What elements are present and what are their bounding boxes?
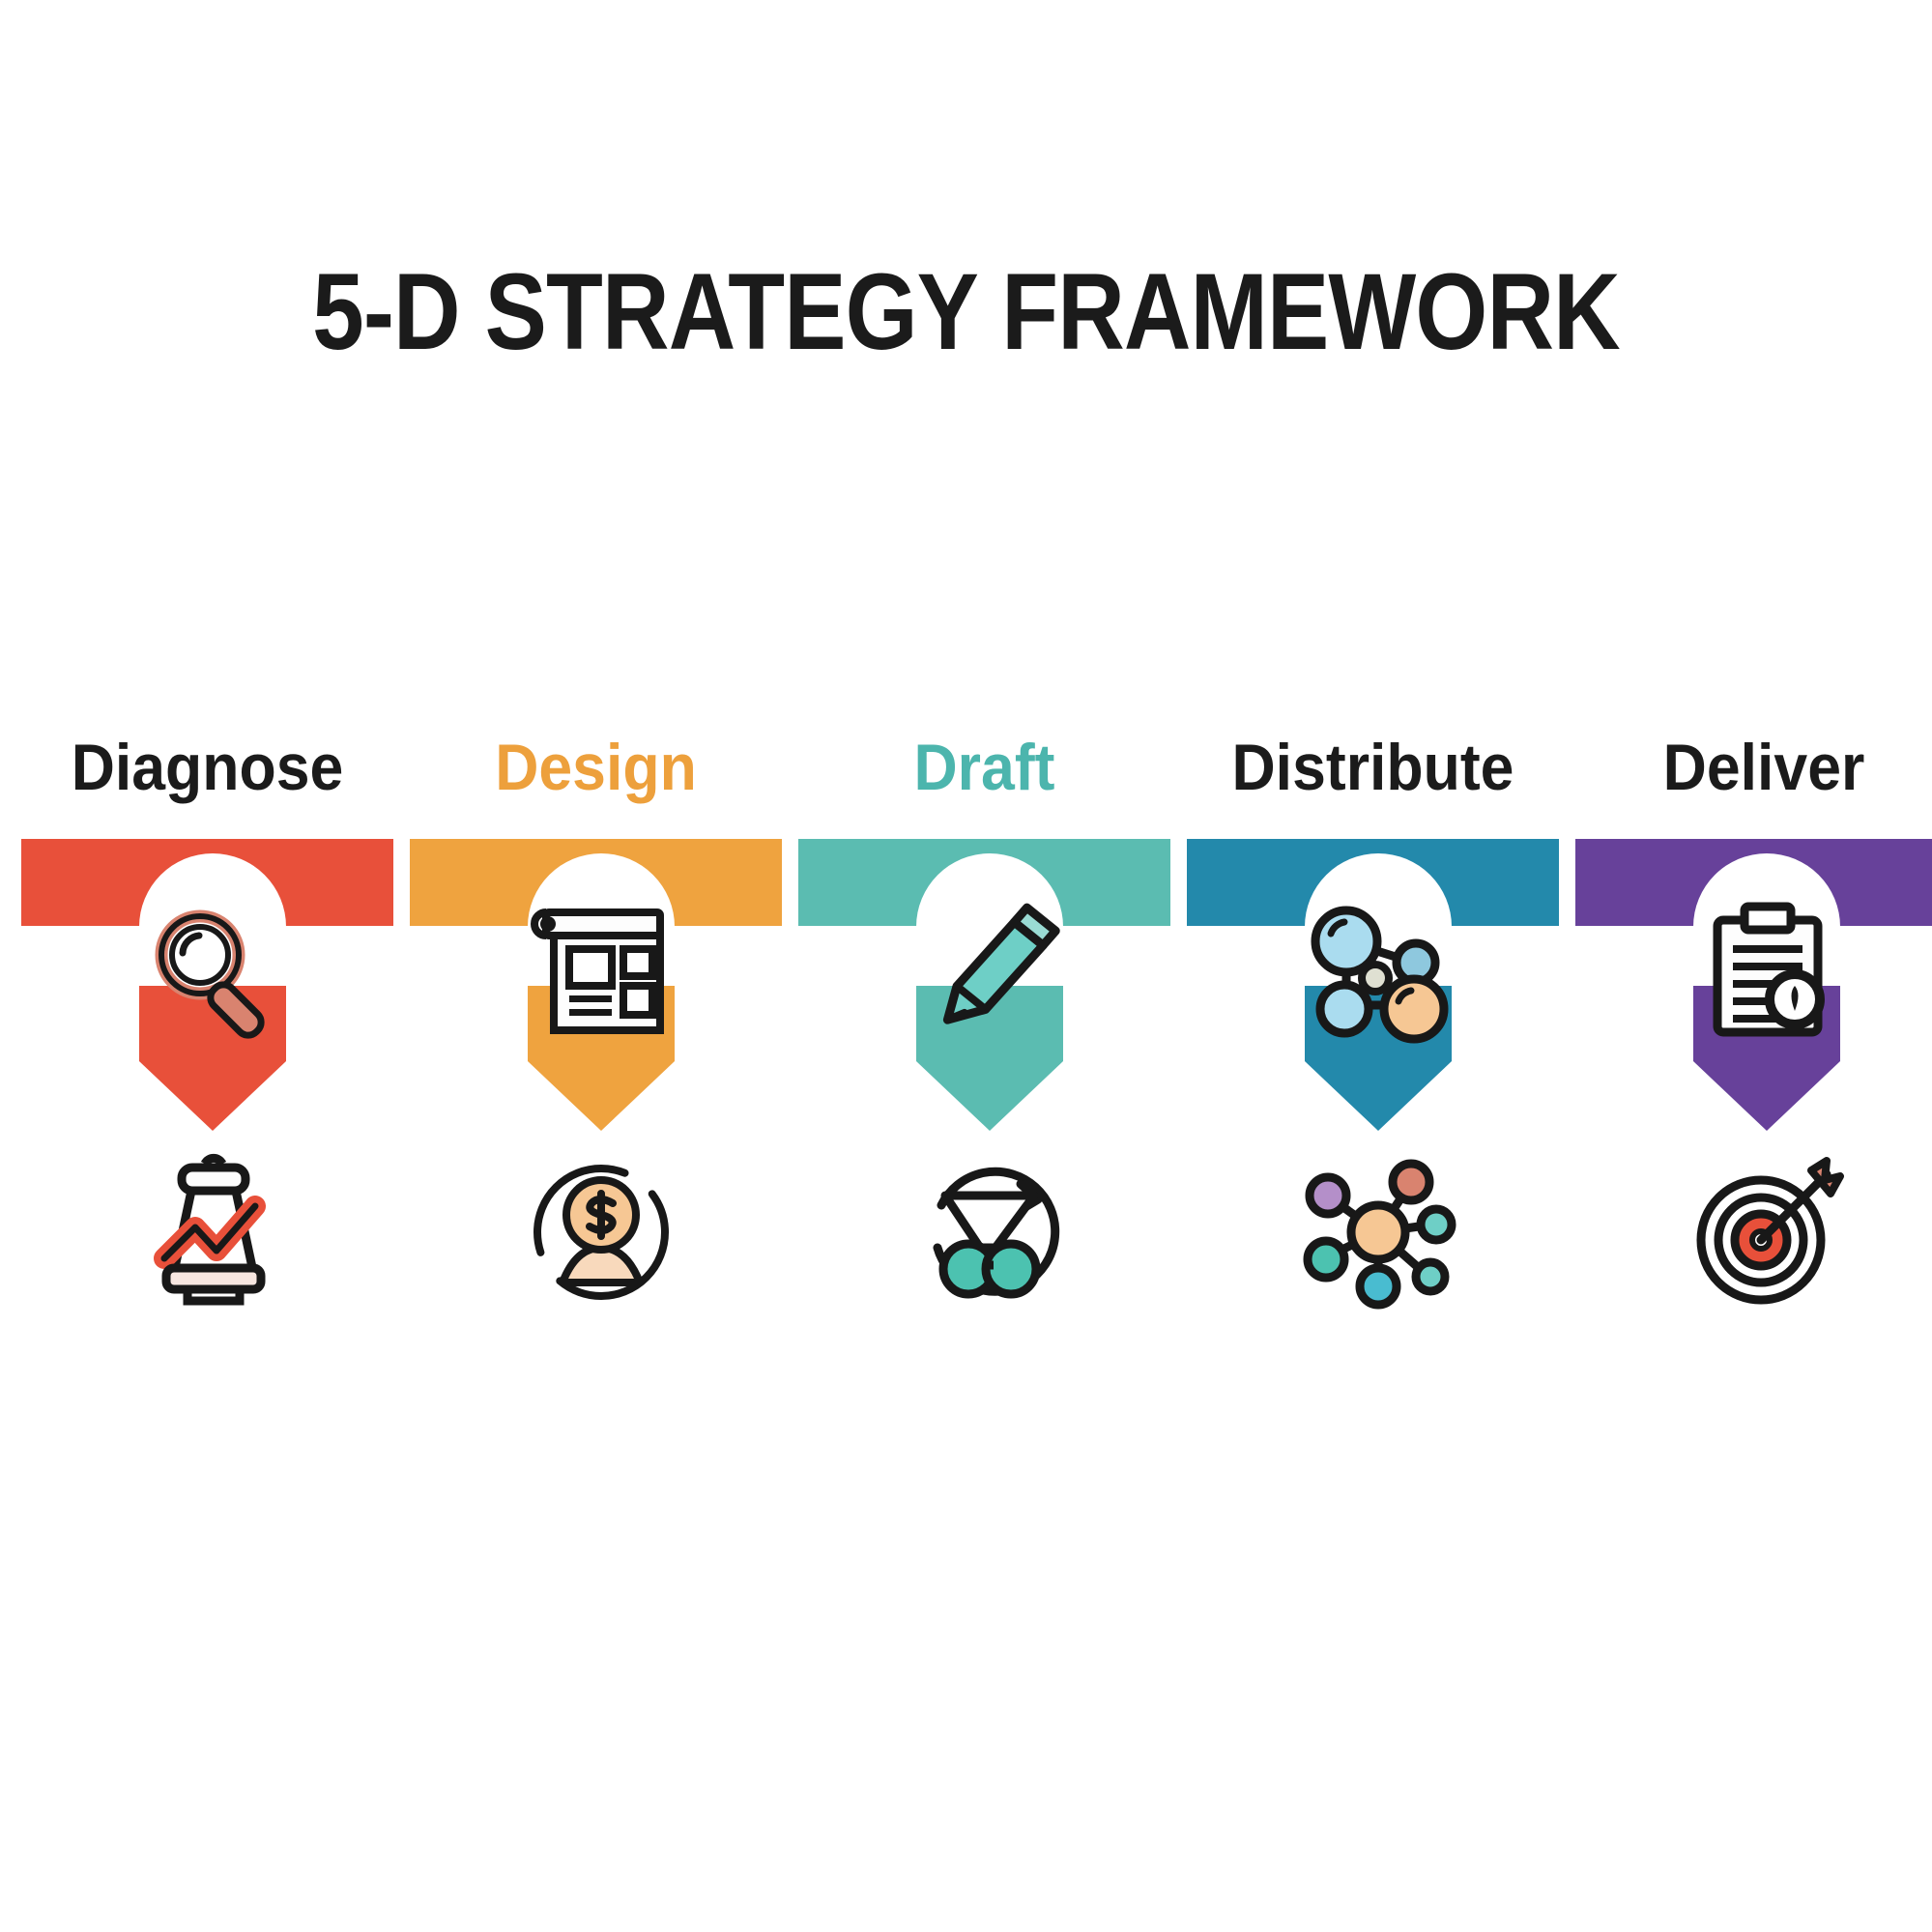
- stage-bar-design: [410, 839, 782, 926]
- stage-design[interactable]: Design: [410, 0, 782, 1932]
- arrow-head: [916, 1061, 1063, 1131]
- stage-arrow-diagnose: [139, 986, 286, 1131]
- stage-distribute[interactable]: Distribute: [1187, 0, 1559, 1932]
- stage-arrow-distribute: [1305, 986, 1452, 1131]
- stage-label-distribute: Distribute: [1201, 735, 1543, 800]
- stage-label-design: Design: [424, 735, 766, 800]
- growth-chart-bell-icon[interactable]: [27, 1136, 399, 1329]
- arrow-stem: [1693, 986, 1840, 1061]
- stage-bar-draft: [798, 839, 1170, 926]
- hub-spoke-network-icon[interactable]: [1193, 1136, 1565, 1329]
- stage-draft[interactable]: Draft: [798, 0, 1170, 1932]
- stage-bar-deliver: [1575, 839, 1932, 926]
- stage-arrow-deliver: [1693, 986, 1840, 1131]
- infographic-canvas: 5-D STRATEGY FRAMEWORK DiagnoseDesignDra…: [0, 0, 1932, 1932]
- person-dollar-icon[interactable]: [416, 1136, 788, 1329]
- stage-label-diagnose: Diagnose: [36, 735, 378, 800]
- arrow-head: [1693, 1061, 1840, 1131]
- stage-arrow-draft: [916, 986, 1063, 1131]
- stage-bar-distribute: [1187, 839, 1559, 926]
- stage-label-draft: Draft: [813, 735, 1155, 800]
- arrow-stem: [916, 986, 1063, 1061]
- arrow-stem: [528, 986, 675, 1061]
- stage-arrow-design: [528, 986, 675, 1131]
- arrow-stem: [139, 986, 286, 1061]
- arrow-head: [528, 1061, 675, 1131]
- stage-row: DiagnoseDesignDraftDistributeDeliver: [0, 0, 1932, 1932]
- arrow-head: [139, 1061, 286, 1131]
- arrow-stem: [1305, 986, 1452, 1061]
- target-arrow-icon[interactable]: [1578, 1136, 1932, 1329]
- stage-diagnose[interactable]: Diagnose: [21, 0, 393, 1932]
- arrow-head: [1305, 1061, 1452, 1131]
- stage-label-deliver: Deliver: [1591, 735, 1932, 800]
- stage-deliver[interactable]: Deliver: [1575, 0, 1932, 1932]
- stage-bar-diagnose: [21, 839, 393, 926]
- funnel-goggles-icon[interactable]: [804, 1136, 1176, 1329]
